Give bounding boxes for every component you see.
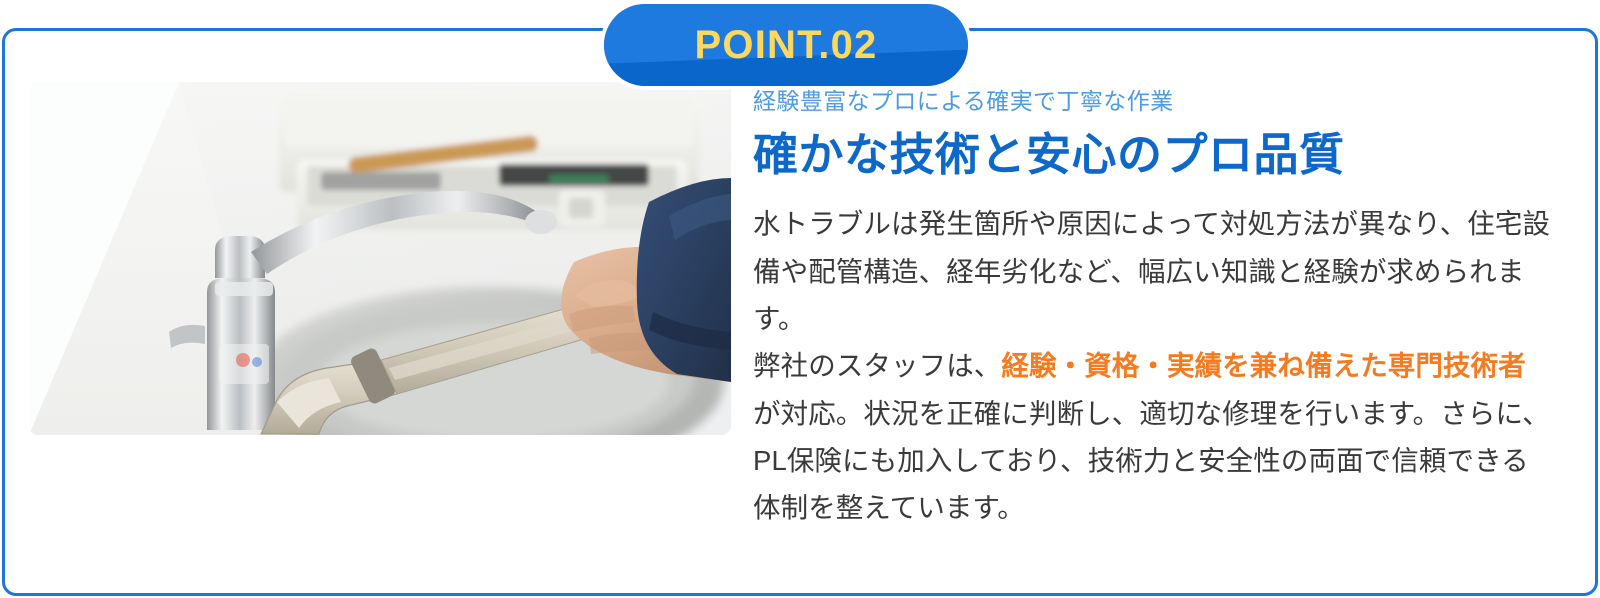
body-part-2: 弊社のスタッフは、 — [753, 350, 1001, 381]
body-part-3: が対応。状況を正確に判断し、適切な修理を行います。さらに、PL保険にも加入してお… — [753, 398, 1550, 524]
point-badge-label: POINT.02 — [695, 25, 878, 65]
point-body-paragraph: 水トラブルは発生箇所や原因によって対処方法が異なり、住宅設備や配管構造、経年劣化… — [753, 200, 1553, 531]
point-eyebrow: 経験豊富なプロによる確実で丁寧な作業 — [753, 86, 1553, 117]
point-card-root: POINT.02 — [0, 0, 1600, 598]
body-highlight: 経験・資格・実績を兼ね備えた専門技術者 — [1001, 350, 1525, 381]
body-part-1: 水トラブルは発生箇所や原因によって対処方法が異なり、住宅設備や配管構造、経年劣化… — [753, 208, 1550, 334]
point-headline: 確かな技術と安心のプロ品質 — [753, 125, 1553, 184]
plumber-repair-photo — [29, 82, 731, 435]
point-text-column: 経験豊富なプロによる確実で丁寧な作業 確かな技術と安心のプロ品質 水トラブルは発… — [753, 86, 1553, 532]
point-badge-container: POINT.02 — [600, 0, 972, 90]
point-badge: POINT.02 — [604, 4, 968, 86]
